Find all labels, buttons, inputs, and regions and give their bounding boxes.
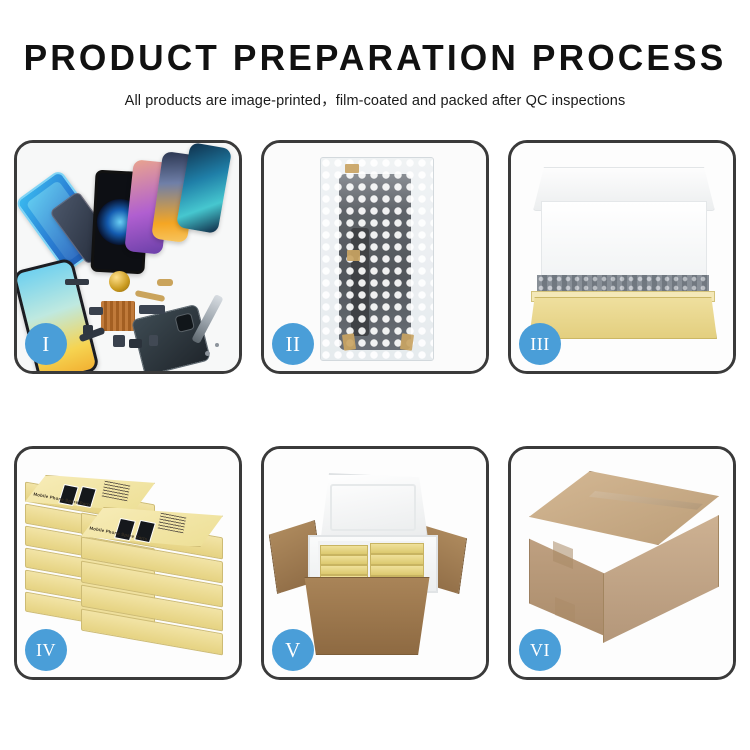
yellow-box-item bbox=[370, 565, 424, 576]
carton-body bbox=[296, 577, 438, 655]
page-subtitle: All products are image-printed，film-coat… bbox=[0, 89, 750, 110]
chip-part bbox=[83, 325, 93, 335]
speaker-coil-part bbox=[109, 271, 130, 292]
white-foam-sheet bbox=[541, 201, 707, 281]
process-step-6: VI bbox=[508, 446, 736, 680]
yellow-box-item bbox=[320, 545, 368, 555]
chip-part bbox=[113, 335, 125, 347]
chip-part bbox=[149, 335, 158, 346]
gold-contact-part bbox=[157, 279, 173, 286]
foam-box-lid bbox=[318, 473, 428, 543]
foam-box-contents bbox=[318, 541, 424, 583]
chip-part bbox=[129, 339, 142, 348]
screw-part bbox=[215, 343, 219, 347]
tape-strip bbox=[400, 333, 414, 351]
tape-strip bbox=[342, 333, 356, 351]
screw-part bbox=[205, 351, 210, 356]
yellow-box-item bbox=[370, 554, 424, 565]
tape-strip bbox=[345, 164, 359, 173]
circuit-board-part bbox=[101, 301, 135, 331]
step-badge-3: III bbox=[519, 323, 561, 365]
process-step-4: Mobile Phone Spare Parts Mobile Phone Sp… bbox=[14, 446, 242, 680]
step-badge-4: IV bbox=[25, 629, 67, 671]
header: PRODUCT PREPARATION PROCESS All products… bbox=[0, 0, 750, 110]
bubble-wrap-bag bbox=[320, 157, 434, 361]
step-badge-2: II bbox=[272, 323, 314, 365]
process-step-3: III bbox=[508, 140, 736, 374]
step-badge-6: VI bbox=[519, 629, 561, 671]
page-title: PRODUCT PREPARATION PROCESS bbox=[8, 40, 743, 76]
process-step-1: I bbox=[14, 140, 242, 374]
product-preparation-infographic: PRODUCT PREPARATION PROCESS All products… bbox=[0, 0, 750, 750]
process-step-2: II bbox=[261, 140, 489, 374]
ribbon-cable-part bbox=[139, 305, 165, 314]
earpiece-part bbox=[65, 279, 89, 285]
process-step-5: V bbox=[261, 446, 489, 680]
step-badge-1: I bbox=[25, 323, 67, 365]
process-steps-grid: I II bbox=[14, 140, 736, 680]
step-badge-5: V bbox=[272, 629, 314, 671]
bubble-texture bbox=[321, 158, 433, 360]
chip-part bbox=[89, 307, 103, 315]
tape-strip bbox=[347, 250, 360, 261]
yellow-box-item bbox=[370, 543, 424, 554]
yellow-box-item bbox=[320, 555, 368, 565]
yellow-box-item bbox=[320, 565, 368, 575]
